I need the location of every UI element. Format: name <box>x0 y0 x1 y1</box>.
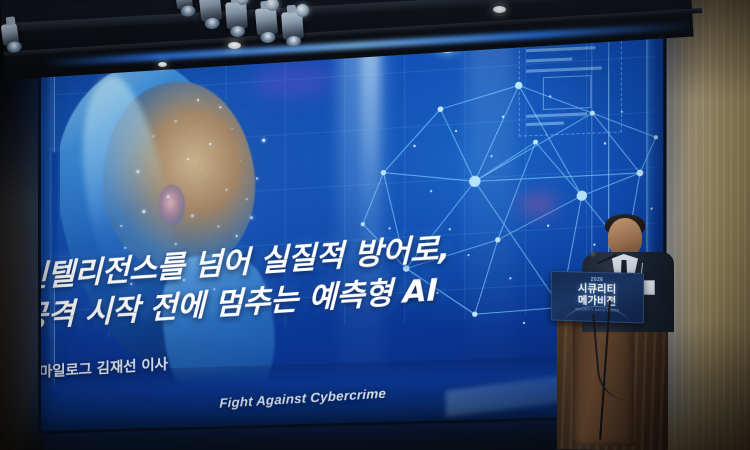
stage-spotlight-5 <box>175 0 193 10</box>
podium-microphone <box>590 251 597 258</box>
stage-spotlight-1 <box>199 0 223 22</box>
conference-photo: GROUP-IB 인텔리전스를 넘어 실질적 방어로, 공격 시작 전에 멈추는… <box>0 0 750 450</box>
ceiling-light-dot-c <box>158 62 167 67</box>
stage-spotlight-2 <box>225 1 248 29</box>
ceiling-light-dot-b <box>493 6 506 13</box>
spotlight-lens-c <box>296 4 309 17</box>
podium-sign-title: 시큐리티 메가비전 <box>552 283 643 309</box>
ceiling-light-dot-a <box>228 42 241 49</box>
stage-spotlight-6 <box>1 23 20 46</box>
stage-spotlight-3 <box>255 7 278 36</box>
